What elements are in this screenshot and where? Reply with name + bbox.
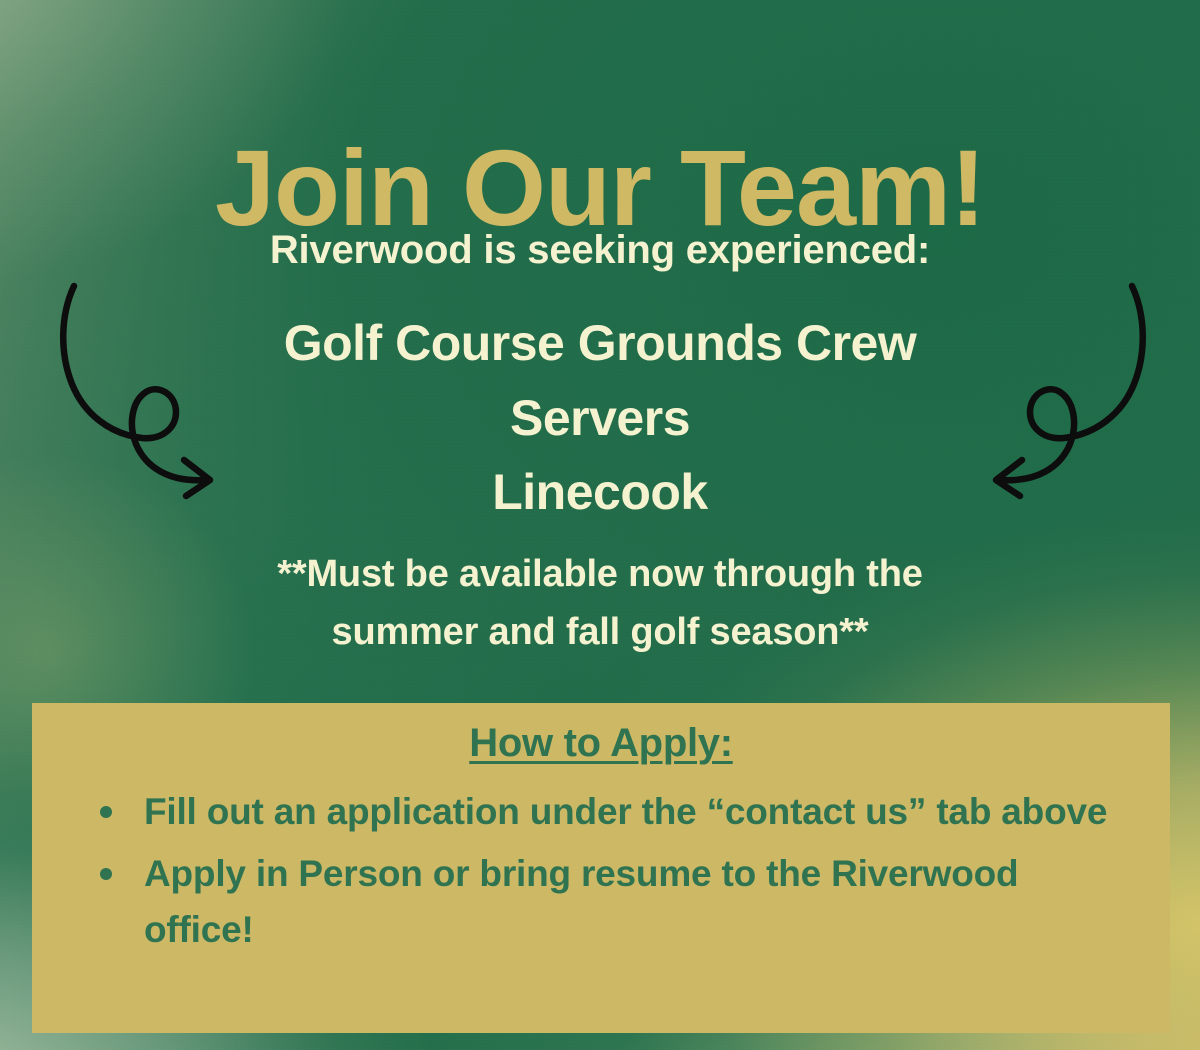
list-item-label: Fill out an application under the “conta…	[144, 791, 1107, 832]
page-title: Join Our Team!	[0, 134, 1200, 242]
bullet-icon	[100, 806, 112, 818]
availability-note-line: summer and fall golf season**	[200, 604, 1000, 662]
how-to-apply-panel: How to Apply: Fill out an application un…	[32, 703, 1170, 1033]
availability-note: **Must be available now through the summ…	[200, 546, 1000, 662]
bullet-icon	[100, 868, 112, 880]
curly-arrow-left-icon	[948, 272, 1148, 502]
list-item-label: Apply in Person or bring resume to the R…	[144, 853, 1018, 950]
job-posting-poster: Join Our Team! Riverwood is seeking expe…	[0, 0, 1200, 1050]
curly-arrow-right-icon	[58, 272, 258, 502]
how-to-apply-list: Fill out an application under the “conta…	[32, 784, 1170, 959]
intro-text: Riverwood is seeking experienced:	[0, 228, 1200, 273]
availability-note-line: **Must be available now through the	[200, 546, 1000, 604]
how-to-apply-title: How to Apply:	[32, 721, 1170, 766]
list-item: Apply in Person or bring resume to the R…	[144, 846, 1126, 958]
list-item: Fill out an application under the “conta…	[144, 784, 1126, 840]
